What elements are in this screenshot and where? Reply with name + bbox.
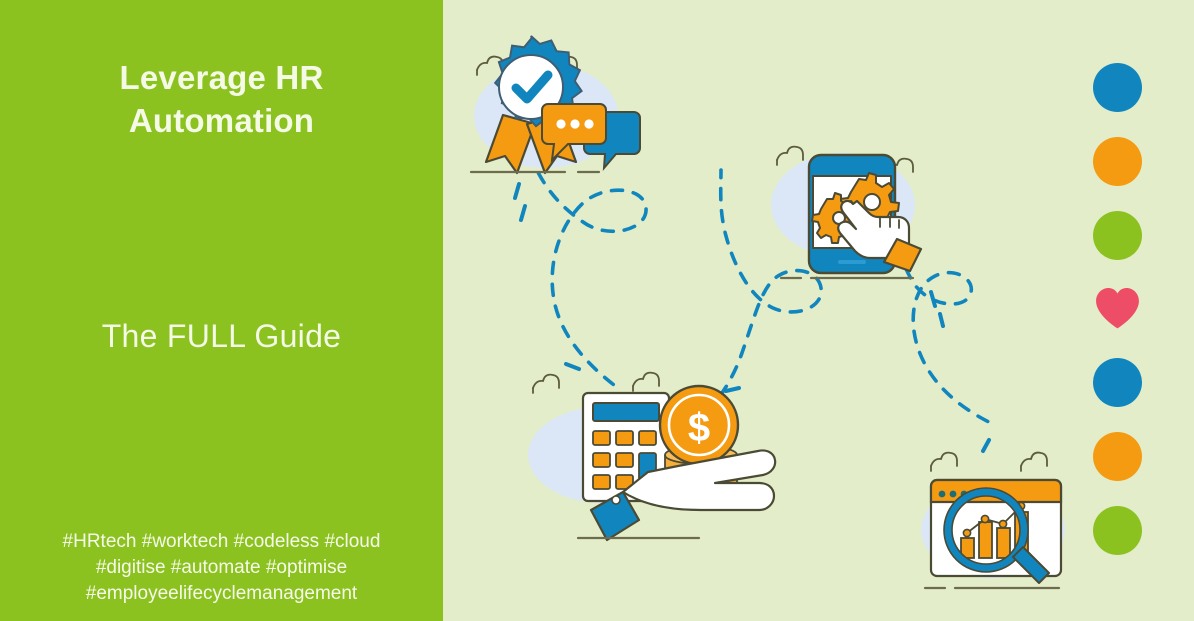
window-dot [950, 491, 957, 498]
page-title-line1: Leverage HR [120, 59, 324, 96]
cloud-doodle-icon [1021, 453, 1047, 466]
hashtag-line-3: #employeelifecyclemanagement [0, 581, 443, 607]
dot-orange-2 [1093, 432, 1142, 481]
confetti [983, 440, 989, 451]
hashtag-line-2: #digitise #automate #optimise [0, 555, 443, 581]
dot-blue-1 [1093, 63, 1142, 112]
page-title: Leverage HR Automation [0, 56, 443, 142]
left-panel: Leverage HR Automation The FULL Guide #H… [0, 0, 443, 621]
cloud-doodle-icon [777, 147, 803, 160]
dot-green-1 [1093, 211, 1142, 260]
poster-canvas: Leverage HR Automation The FULL Guide #H… [0, 0, 1194, 621]
page-title-line2: Automation [0, 99, 443, 142]
award-badge-illustration [471, 36, 640, 220]
cloud-doodle-icon [633, 373, 659, 386]
confetti [515, 184, 525, 220]
cloud-doodle-icon [931, 453, 957, 466]
bubble-dot [570, 119, 579, 128]
calculator-display [593, 403, 659, 421]
dot-green-2 [1093, 506, 1142, 555]
hashtag-line-1: #HRtech #worktech #codeless #cloud [0, 529, 443, 555]
heart-icon [1093, 284, 1142, 333]
heart-pink [1093, 284, 1142, 333]
analytics-window-illustration [921, 440, 1065, 588]
illustration-area: $ [443, 0, 1194, 621]
page-subtitle: The FULL Guide [0, 315, 443, 357]
calculator-money-illustration: $ [528, 364, 775, 540]
decorative-dot-column [1093, 63, 1145, 603]
connector-paths [523, 132, 995, 425]
svg-text:$: $ [688, 406, 710, 450]
connector-path-1 [523, 132, 646, 388]
bubble-dot [584, 119, 593, 128]
dollar-coin-icon: $ [660, 386, 738, 464]
cloud-doodle-icon [533, 375, 559, 388]
smartphone-home-bar [838, 260, 866, 264]
bubble-dot [556, 119, 565, 128]
window-dot [939, 491, 946, 498]
confetti [931, 292, 943, 326]
dot-blue-2 [1093, 358, 1142, 407]
hashtag-block: #HRtech #worktech #codeless #cloud #digi… [0, 529, 443, 607]
dot-orange-1 [1093, 137, 1142, 186]
